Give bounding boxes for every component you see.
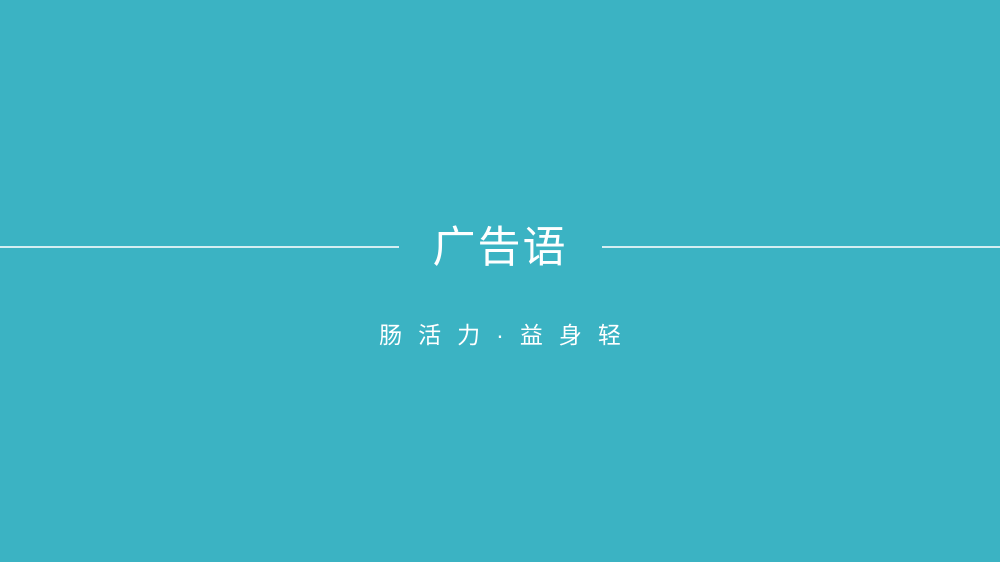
slide-canvas: 广告语 肠活力·益身轻 — [0, 0, 1000, 562]
page-subtitle: 肠活力·益身轻 — [363, 318, 637, 352]
divider-line-right — [602, 246, 1000, 248]
title-divider-row: 广告语 — [0, 221, 1000, 273]
page-title: 广告语 — [399, 227, 602, 270]
subtitle-row: 肠活力·益身轻 — [0, 318, 1000, 352]
divider-line-left — [0, 246, 399, 248]
